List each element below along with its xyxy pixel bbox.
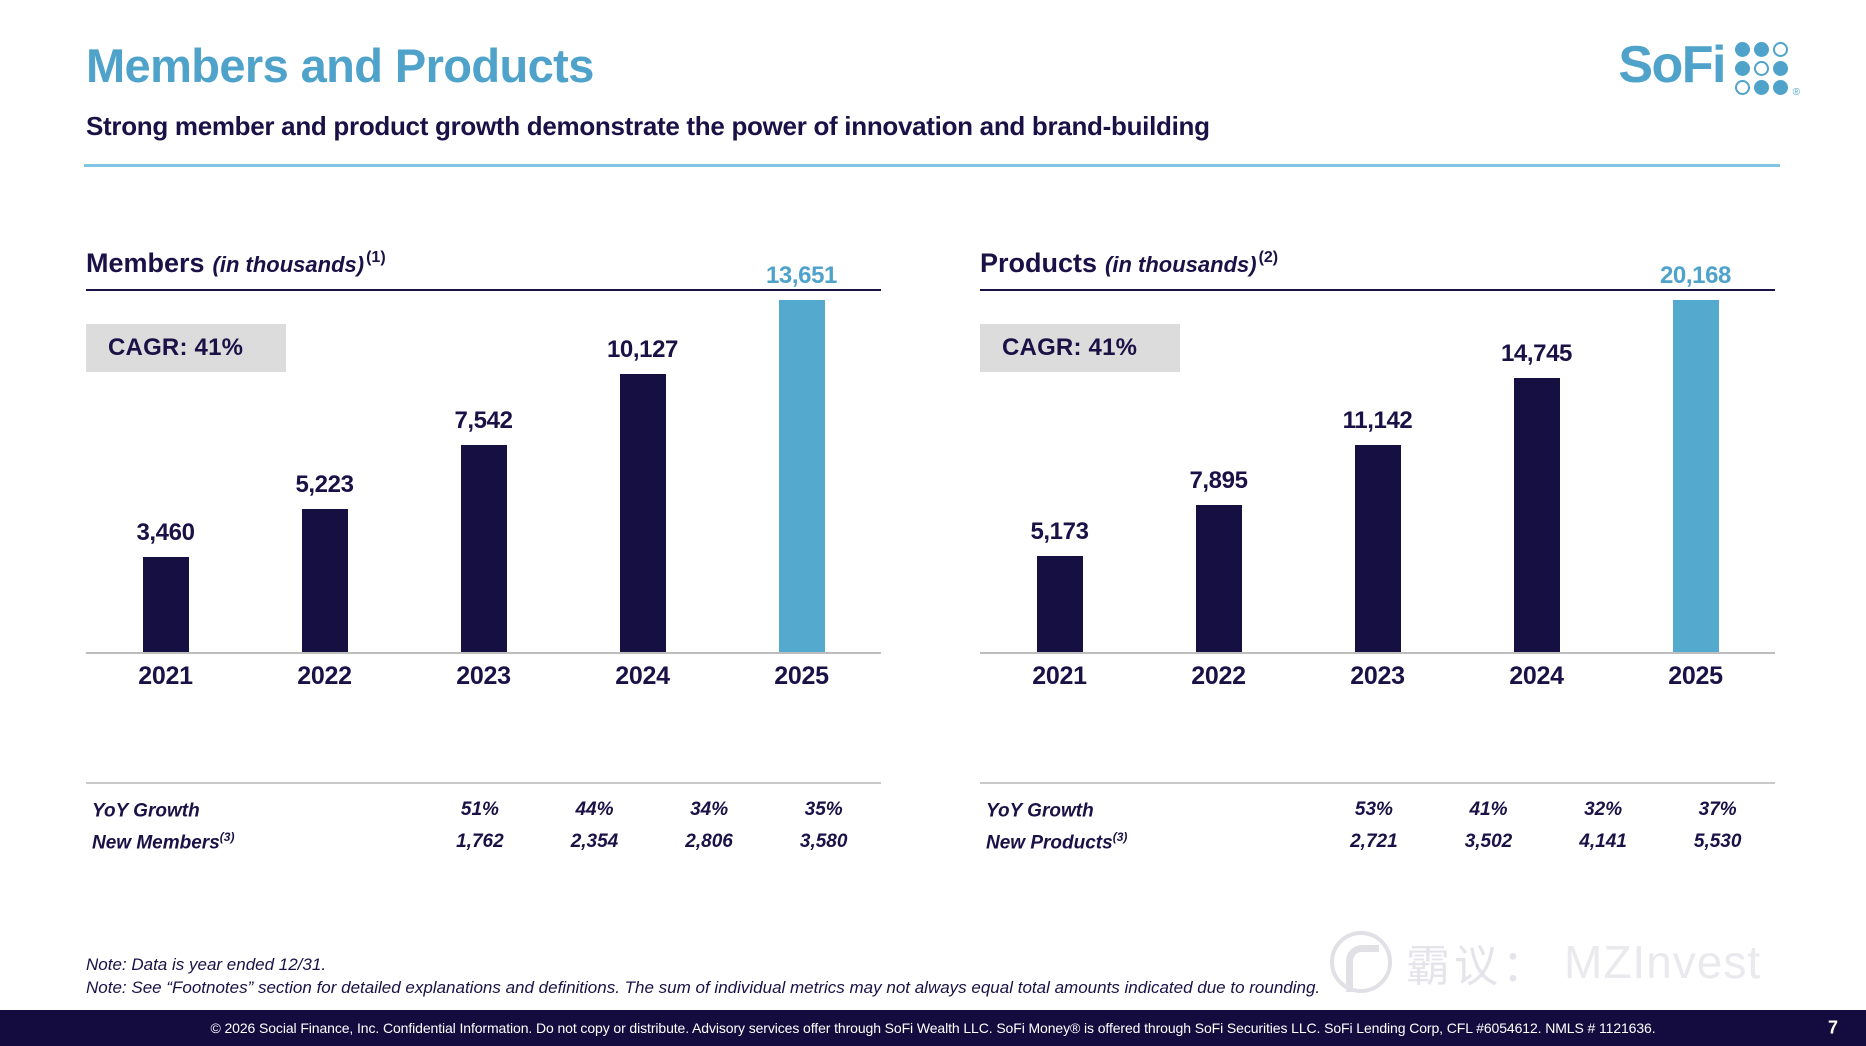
cell: 35% [766, 799, 881, 821]
logo-dot-filled [1754, 80, 1769, 95]
row-cells: 2,721 3,502 4,141 5,530 [1202, 831, 1775, 853]
bar-value-label: 14,745 [1501, 340, 1572, 368]
page-title: Members and Products [86, 42, 594, 89]
bar-column: 20,168 [1633, 262, 1759, 652]
cell: 41% [1431, 799, 1546, 821]
cell: 53% [1317, 799, 1432, 821]
bar-column: 7,895 [1156, 262, 1282, 652]
logo-dot-hollow [1773, 42, 1788, 57]
row-label-footnote: (3) [220, 830, 235, 844]
cell: 3,580 [766, 831, 881, 853]
cell: 37% [1660, 799, 1775, 821]
axis-label-2022: 2022 [1156, 662, 1282, 691]
note-line-2: Note: See “Footnotes” section for detail… [86, 977, 1320, 1000]
logo-dot-filled [1735, 42, 1750, 57]
bar-2025 [1673, 300, 1719, 652]
logo-dot-filled [1735, 61, 1750, 76]
axis-label-2021: 2021 [103, 662, 229, 691]
row-label-text: New Products [986, 832, 1113, 853]
cell: 32% [1546, 799, 1661, 821]
products-axis-labels: 2021 2022 2023 2024 2025 [980, 654, 1775, 698]
bar-column: 11,142 [1315, 262, 1441, 652]
footnotes: Note: Data is year ended 12/31. Note: Se… [86, 954, 1320, 1000]
bar-2023 [1355, 445, 1401, 652]
page-subtitle: Strong member and product growth demonst… [86, 113, 1210, 139]
axis-label-2023: 2023 [421, 662, 547, 691]
bar-value-label: 11,142 [1343, 407, 1413, 435]
page-number: 7 [1828, 1018, 1838, 1039]
axis-label-2024: 2024 [580, 662, 706, 691]
sofi-wordmark: SoFi [1618, 39, 1725, 91]
axis-label-2024: 2024 [1474, 662, 1600, 691]
cell [308, 799, 423, 821]
bar-value-label: 5,173 [1030, 518, 1088, 546]
watermark-chinese-text: 霸议： [1406, 930, 1550, 994]
registered-mark: ® [1793, 87, 1800, 98]
bar-column: 5,223 [262, 262, 388, 652]
cell: 51% [423, 799, 538, 821]
logo-dot-filled [1773, 61, 1788, 76]
row-cells: 1,762 2,354 2,806 3,580 [308, 831, 881, 853]
row-label: New Products(3) [980, 830, 1202, 854]
row-label: YoY Growth [86, 798, 308, 822]
products-bars: 5,173 7,895 11,142 14,745 20,168 [980, 262, 1775, 652]
bar-column: 10,127 [580, 262, 706, 652]
bar-2022 [1196, 505, 1242, 652]
members-table-rule [86, 782, 881, 784]
watermark-logo-icon [1330, 931, 1392, 993]
row-label: New Members(3) [86, 830, 308, 854]
sofi-dot-grid-icon: ® [1735, 42, 1788, 95]
row-label-text: YoY Growth [92, 800, 200, 821]
logo-dot-hollow [1735, 80, 1750, 95]
members-axis-labels: 2021 2022 2023 2024 2025 [86, 654, 881, 698]
cell: 2,354 [537, 831, 652, 853]
bar-value-label: 7,895 [1189, 467, 1247, 495]
row-cells: 53% 41% 32% 37% [1202, 799, 1775, 821]
axis-label-2023: 2023 [1315, 662, 1441, 691]
sofi-logo: SoFi ® [1618, 36, 1788, 94]
cell: 5,530 [1660, 831, 1775, 853]
bar-column: 13,651 [739, 262, 865, 652]
cell [1202, 799, 1317, 821]
row-label-text: New Members [92, 832, 220, 853]
bar-2022 [302, 509, 348, 652]
cell: 44% [537, 799, 652, 821]
header-divider [84, 164, 1780, 167]
table-row: YoY Growth 53% 41% 32% 37% [980, 794, 1775, 826]
cell [308, 831, 423, 853]
bar-column: 14,745 [1474, 262, 1600, 652]
bar-2021 [143, 557, 189, 652]
cell: 4,141 [1546, 831, 1661, 853]
bar-column: 3,460 [103, 262, 229, 652]
footer-bar: © 2026 Social Finance, Inc. Confidential… [0, 1010, 1866, 1046]
bar-value-label: 7,542 [454, 407, 512, 435]
members-bar-chart: 3,460 5,223 7,542 10,127 13,651 [86, 262, 881, 652]
products-bar-chart: 5,173 7,895 11,142 14,745 20,168 [980, 262, 1775, 652]
watermark: 霸议： MZInvest [1330, 930, 1761, 994]
bar-value-label: 13,651 [766, 262, 837, 290]
axis-label-2025: 2025 [1633, 662, 1759, 691]
bar-2024 [620, 374, 666, 652]
footer-disclaimer: © 2026 Social Finance, Inc. Confidential… [210, 1020, 1655, 1036]
logo-dot-filled [1773, 80, 1788, 95]
slide: Members and Products Strong member and p… [0, 0, 1866, 1046]
row-label-text: YoY Growth [986, 800, 1094, 821]
axis-label-2021: 2021 [997, 662, 1123, 691]
cell: 1,762 [423, 831, 538, 853]
axis-label-2025: 2025 [739, 662, 865, 691]
cell: 34% [652, 799, 767, 821]
bar-column: 7,542 [421, 262, 547, 652]
cell: 2,806 [652, 831, 767, 853]
axis-label-2022: 2022 [262, 662, 388, 691]
cell: 3,502 [1431, 831, 1546, 853]
bar-2024 [1514, 378, 1560, 652]
bar-value-label: 5,223 [295, 471, 353, 499]
bar-2023 [461, 445, 507, 652]
note-line-1: Note: Data is year ended 12/31. [86, 954, 1320, 977]
cell [1202, 831, 1317, 853]
bar-2025 [779, 300, 825, 652]
bar-2021 [1037, 556, 1083, 652]
logo-dot-hollow [1754, 61, 1769, 76]
bar-value-label: 10,127 [607, 336, 678, 364]
members-bars: 3,460 5,223 7,542 10,127 13,651 [86, 262, 881, 652]
bar-value-label: 3,460 [136, 519, 194, 547]
table-row: YoY Growth 51% 44% 34% 35% [86, 794, 881, 826]
products-data-table: YoY Growth 53% 41% 32% 37% New Products(… [980, 794, 1775, 858]
products-table-rule [980, 782, 1775, 784]
members-data-table: YoY Growth 51% 44% 34% 35% New Members(3… [86, 794, 881, 858]
row-label-footnote: (3) [1113, 830, 1128, 844]
row-cells: 51% 44% 34% 35% [308, 799, 881, 821]
table-row: New Members(3) 1,762 2,354 2,806 3,580 [86, 826, 881, 858]
bar-column: 5,173 [997, 262, 1123, 652]
cell: 2,721 [1317, 831, 1432, 853]
logo-dot-filled [1754, 42, 1769, 57]
row-label: YoY Growth [980, 798, 1202, 822]
watermark-brand-text: MZInvest [1564, 935, 1761, 989]
bar-value-label: 20,168 [1660, 262, 1731, 290]
table-row: New Products(3) 2,721 3,502 4,141 5,530 [980, 826, 1775, 858]
